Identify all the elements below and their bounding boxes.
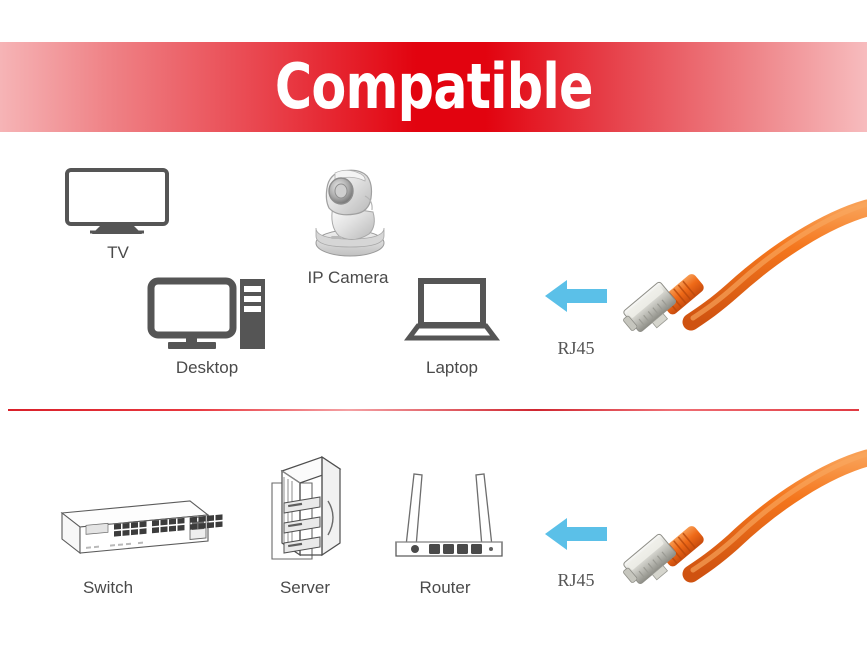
rj45-label-top: RJ45: [528, 338, 624, 359]
page-title: Compatible: [275, 56, 593, 118]
rj45-cable-orange: [625, 440, 867, 630]
laptop-label: Laptop: [404, 358, 500, 378]
tv-label: TV: [62, 243, 174, 263]
wifi-router-icon: [392, 462, 506, 562]
desktop-label: Desktop: [148, 358, 266, 378]
ip-camera-label: IP Camera: [280, 268, 416, 288]
arrow-left-icon: [545, 278, 607, 314]
switch-label: Switch: [48, 578, 168, 598]
header-banner: Compatible: [0, 42, 867, 132]
desktop-icon: [148, 278, 266, 352]
tv-icon: [62, 166, 174, 236]
rj45-label-bottom: RJ45: [528, 570, 624, 591]
rj45-cable-orange: [625, 190, 867, 375]
router-label: Router: [392, 578, 498, 598]
server-label: Server: [252, 578, 358, 598]
arrow-left-icon: [545, 516, 607, 552]
network-switch-icon: [40, 495, 210, 567]
laptop-icon: [408, 278, 496, 340]
server-rack-icon: [266, 455, 344, 567]
section-divider: [8, 409, 859, 411]
ip-camera-icon: [305, 166, 391, 258]
